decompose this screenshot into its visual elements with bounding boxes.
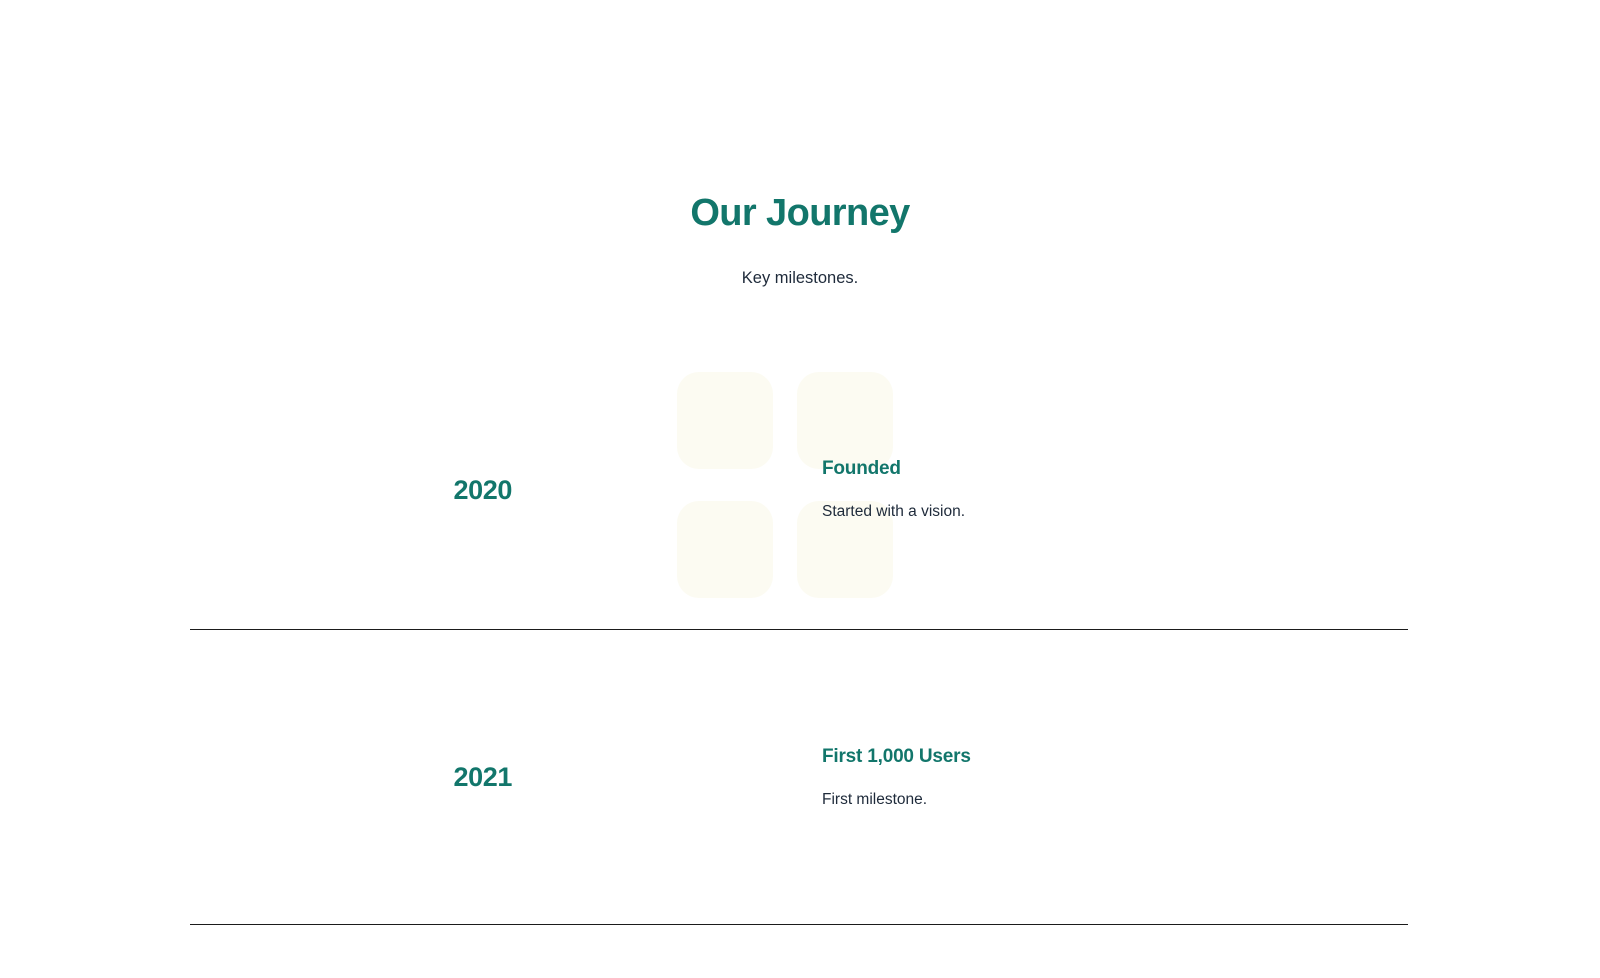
timeline: 2020 Founded Started with a vision. 2021… [190,350,1408,925]
page-subtitle: Key milestones. [0,266,1600,290]
page-root: Our Journey Key milestones. 2020 Founded… [0,0,1600,978]
page-header: Our Journey Key milestones. [0,190,1600,290]
timeline-row[interactable]: 2021 First 1,000 Users First milestone. [190,630,1408,925]
timeline-detail-column: First 1,000 Users First milestone. [522,744,1408,811]
timeline-milestone-title: Founded [822,456,1408,482]
tile-top-right-icon [797,372,893,469]
timeline-year: 2021 [190,760,512,794]
page-title: Our Journey [0,190,1600,236]
timeline-year-column: 2021 [190,760,522,794]
tile-top-left-icon [677,372,773,469]
timeline-detail-column: Founded Started with a vision. [522,456,1408,523]
timeline-milestone-description: Started with a vision. [822,501,1408,523]
timeline-year-column: 2020 [190,473,522,507]
timeline-milestone-description: First milestone. [822,789,1408,811]
timeline-year: 2020 [190,473,512,507]
timeline-milestone-title: First 1,000 Users [822,744,1408,770]
timeline-row[interactable]: 2020 Founded Started with a vision. [190,350,1408,630]
